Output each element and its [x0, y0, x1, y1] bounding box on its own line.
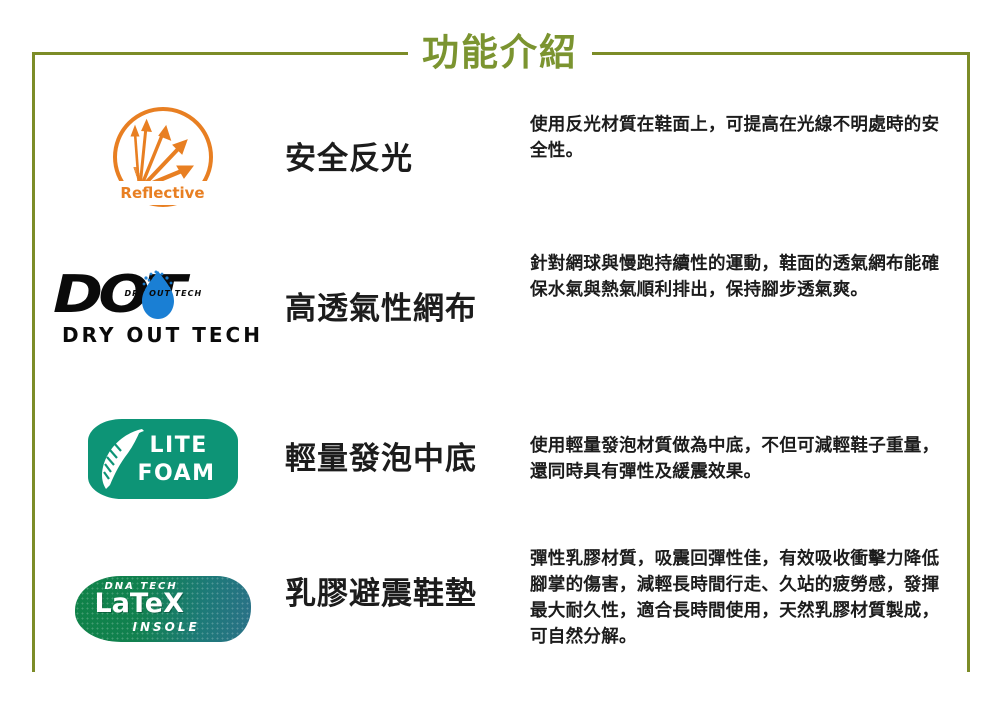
lite-foam-line1-label: LITE [150, 433, 208, 458]
latex-insole-logo: DNA TECH LaTeX INSOLE [75, 576, 251, 642]
reflective-logo: Reflective [101, 107, 225, 211]
reflective-brand-label: Reflective [120, 184, 204, 202]
feature-description-cell: 彈性乳膠材質，吸震回彈性佳，有效吸收衝擊力降低腳掌的傷害，減輕長時間行走、久站的… [530, 534, 962, 696]
feature-logo-cell: Reflective [40, 84, 285, 234]
feature-logo-cell: DOT DRY OUT TECH DRY O [40, 234, 285, 384]
feature-description: 彈性乳膠材質，吸震回彈性佳，有效吸收衝擊力降低腳掌的傷害，減輕長時間行走、久站的… [530, 546, 944, 650]
feature-description-cell: 針對網球與慢跑持續性的運動，鞋面的透氣網布能確保水氣與熱氣順利排出，保持腳步透氣… [530, 234, 962, 401]
reflective-banner: Reflective [113, 181, 213, 205]
latex-brand-label: LaTeX [95, 590, 184, 618]
feature-description-cell: 使用輕量發泡材質做為中底，不但可減輕鞋子重量，還同時具有彈性及緩震效果。 [530, 384, 962, 534]
feature-row-dry-out-tech: DOT DRY OUT TECH DRY O [40, 234, 962, 384]
feature-title-cell: 乳膠避震鞋墊 [285, 534, 530, 724]
feature-title: 乳膠避震鞋墊 [285, 574, 477, 614]
feature-list: Reflective 安全反光 使用反光材質在鞋面上，可提高在光線不明處時的安全… [32, 84, 970, 684]
lite-foam-line2-label: FOAM [138, 461, 216, 486]
feature-description: 針對網球與慢跑持續性的運動，鞋面的透氣網布能確保水氣與熱氣順利排出，保持腳步透氣… [530, 251, 944, 303]
feature-title-cell: 高透氣性網布 [285, 234, 530, 384]
latex-subtitle-label: INSOLE [133, 620, 200, 634]
feature-title-cell: 安全反光 [285, 84, 530, 234]
feature-description: 使用輕量發泡材質做為中底，不但可減輕鞋子重量，還同時具有彈性及緩震效果。 [530, 433, 944, 485]
dot-micro-label: DRY OUT TECH [125, 289, 203, 298]
feature-description: 使用反光材質在鞋面上，可提高在光線不明處時的安全性。 [530, 112, 944, 164]
feature-row-reflective: Reflective 安全反光 使用反光材質在鞋面上，可提高在光線不明處時的安全… [40, 84, 962, 234]
feature-row-latex-insole: DNA TECH LaTeX INSOLE 乳膠避震鞋墊 彈性乳膠材質，吸震回彈… [40, 534, 962, 684]
feature-title: 輕量發泡中底 [285, 439, 477, 479]
feature-title: 安全反光 [285, 139, 413, 179]
feature-title: 高透氣性網布 [285, 289, 477, 329]
feature-title-cell: 輕量發泡中底 [285, 384, 530, 534]
feature-row-lite-foam: LITE FOAM 輕量發泡中底 使用輕量發泡材質做為中底，不但可減輕鞋子重量，… [40, 384, 962, 534]
dot-subtitle-label: DRY OUT TECH [53, 323, 273, 347]
lite-foam-logo: LITE FOAM [88, 419, 238, 499]
feature-logo-cell: LITE FOAM [40, 384, 285, 534]
feature-logo-cell: DNA TECH LaTeX INSOLE [40, 534, 285, 684]
dot-logo: DOT DRY OUT TECH DRY O [53, 267, 273, 351]
